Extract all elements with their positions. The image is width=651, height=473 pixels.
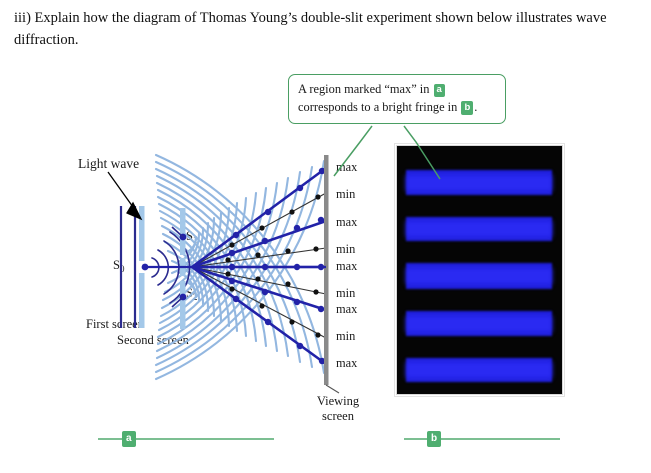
callout-text-part1: A region marked “max” in: [298, 82, 429, 96]
figure-stage: A region marked “max” in a corresponds t…: [0, 60, 651, 473]
callout-chip-a: a: [434, 84, 445, 98]
leader-to-max-label: [334, 126, 372, 176]
callout-text-part2: corresponds to a bright fringe in: [298, 100, 457, 114]
callout-text-part3: .: [474, 100, 477, 114]
callout-text: A region marked “max” in a corresponds t…: [298, 81, 496, 116]
callout-box: A region marked “max” in a corresponds t…: [288, 74, 506, 124]
leader-to-photo-fringe: [404, 126, 440, 179]
question-text: iii) Explain how the diagram of Thomas Y…: [14, 8, 634, 52]
callout-chip-b: b: [461, 101, 473, 115]
